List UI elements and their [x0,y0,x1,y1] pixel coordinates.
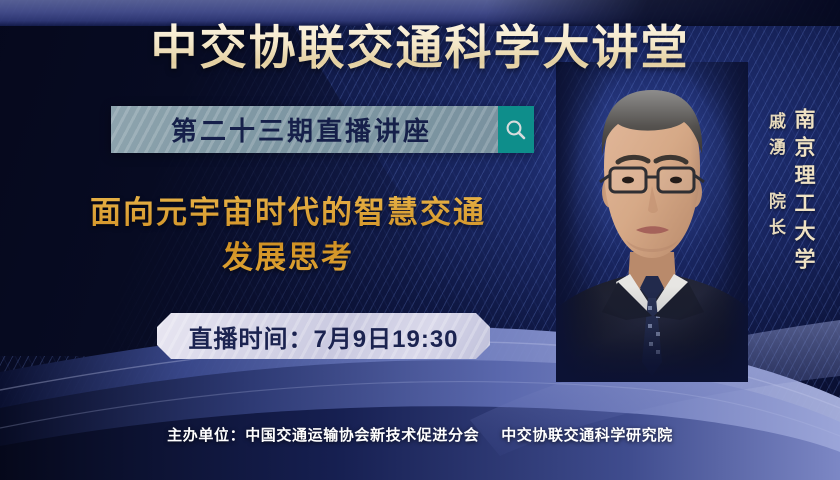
organizer-name-1: 中国交通运输协会新技术促进分会 [245,427,479,444]
lecture-title-line1: 面向元宇宙时代的智慧交通 [90,195,486,230]
episode-label: 第二十三期直播讲座 [171,111,438,148]
portrait-image [556,62,748,382]
livestream-poster: 中交协联交通科学大讲堂 第二十三期直播讲座 面向元宇宙时代的智慧交通 发展思考 … [0,0,840,480]
speaker-university: 南京理工大学 [788,108,818,276]
episode-plate: 第二十三期直播讲座 [111,106,498,153]
organizer-name-2: 中交协联交通科学研究院 [501,427,673,444]
speaker-name-title: 戚湧 院长 [763,112,788,244]
search-icon [504,118,528,142]
speaker-portrait [556,62,748,382]
livestream-time-text: 直播时间：7月9日19:30 [188,319,458,354]
lecture-title: 面向元宇宙时代的智慧交通 发展思考 [28,190,548,280]
organizer-footer: 主办单位：中国交通运输协会新技术促进分会中交协联交通科学研究院 [0,424,840,445]
page-title: 中交协联交通科学大讲堂 [0,18,840,80]
search-icon-box[interactable] [498,106,534,153]
livestream-time-banner: 直播时间：7月9日19:30 [157,313,490,359]
organizer-prefix: 主办单位： [167,427,245,444]
lecture-title-line2: 发展思考 [28,235,548,280]
episode-banner: 第二十三期直播讲座 [111,106,534,153]
